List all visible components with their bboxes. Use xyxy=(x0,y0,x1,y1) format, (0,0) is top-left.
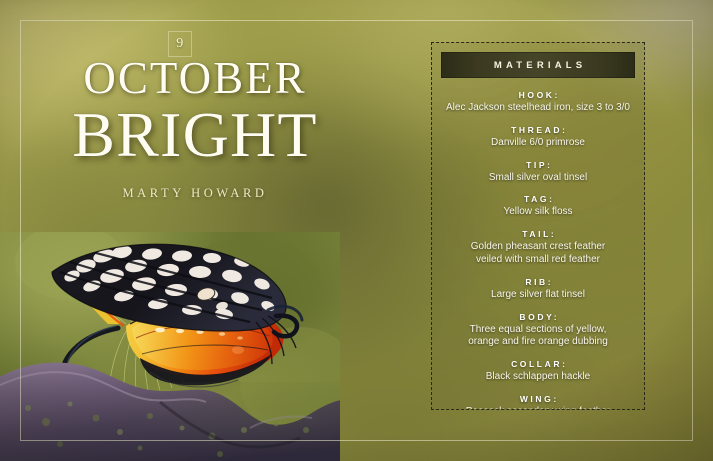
material-item: TIP:Small silver oval tinsel xyxy=(440,160,636,185)
material-item: TAG:Yellow silk floss xyxy=(440,194,636,219)
material-value: Small silver oval tinsel xyxy=(440,172,636,185)
material-item: BODY:Three equal sections of yellow, ora… xyxy=(440,312,636,350)
material-item: COLLAR:Black schlappen hackle xyxy=(440,359,636,384)
magazine-page: 9 OCTOBER BRIGHT MARTY HOWARD MATERIALS … xyxy=(0,0,713,461)
material-label: THREAD: xyxy=(440,125,636,135)
material-label: TAIL: xyxy=(440,229,636,239)
material-label: WING: xyxy=(440,394,636,404)
page-number-text: 9 xyxy=(176,36,184,52)
material-value: Alec Jackson steelhead iron, size 3 to 3… xyxy=(440,102,636,115)
fly-photograph xyxy=(0,232,340,461)
material-label: COLLAR: xyxy=(440,359,636,369)
material-value: Yellow silk floss xyxy=(440,206,636,219)
material-value: Three equal sections of yellow, orange a… xyxy=(440,324,636,350)
fly-photo-artwork xyxy=(0,232,340,461)
material-value: Large silver flat tinsel xyxy=(440,289,636,302)
material-item: HOOK:Alec Jackson steelhead iron, size 3… xyxy=(440,90,636,115)
material-label: BODY: xyxy=(440,312,636,322)
materials-header-text: MATERIALS xyxy=(490,60,587,71)
materials-list: HOOK:Alec Jackson steelhead iron, size 3… xyxy=(432,78,644,410)
material-item: TAIL:Golden pheasant crest feather veile… xyxy=(440,229,636,267)
material-label: RIB: xyxy=(440,277,636,287)
material-value: Black schlappen hackle xyxy=(440,371,636,384)
material-item: RIB:Large silver flat tinsel xyxy=(440,277,636,302)
material-label: TIP: xyxy=(440,160,636,170)
material-value: Danville 6/0 primrose xyxy=(440,137,636,150)
materials-panel: MATERIALS HOOK:Alec Jackson steelhead ir… xyxy=(431,42,645,410)
materials-header-bar: MATERIALS xyxy=(441,52,635,78)
material-label: TAG: xyxy=(440,194,636,204)
material-value: Peacock secondary wing feather xyxy=(440,406,636,410)
material-item: THREAD:Danville 6/0 primrose xyxy=(440,125,636,150)
material-item: WING:Peacock secondary wing feather xyxy=(440,394,636,410)
page-number-badge: 9 xyxy=(168,31,192,57)
material-label: HOOK: xyxy=(440,90,636,100)
material-value: Golden pheasant crest feather veiled wit… xyxy=(440,241,636,267)
